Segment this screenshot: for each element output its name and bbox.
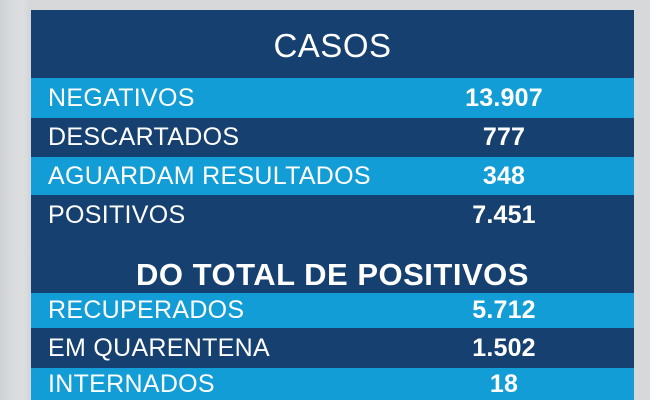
- row-label-aguardam-resultados: AGUARDAM RESULTADOS: [48, 162, 371, 191]
- row-label-descartados: DESCARTADOS: [48, 123, 239, 152]
- table-row-em-quarentena: EM QUARENTENA 1.502: [31, 328, 634, 368]
- row-label-positivos: POSITIVOS: [48, 201, 185, 230]
- row-value-negativos: 13.907: [429, 84, 579, 113]
- table-row-aguardam-resultados: AGUARDAM RESULTADOS 348: [31, 157, 634, 195]
- table-row-internados: INTERNADOS 18: [31, 368, 634, 400]
- row-value-descartados: 777: [429, 123, 579, 152]
- row-label-internados: INTERNADOS: [48, 370, 215, 399]
- row-value-positivos: 7.451: [429, 201, 579, 230]
- table-row-recuperados: RECUPERADOS 5.712: [31, 293, 634, 328]
- row-label-recuperados: RECUPERADOS: [48, 296, 244, 325]
- cases-infographic: CASOS NEGATIVOS 13.907 DESCARTADOS 777 A…: [0, 0, 650, 400]
- row-label-em-quarentena: EM QUARENTENA: [48, 334, 270, 363]
- stats-panel: CASOS NEGATIVOS 13.907 DESCARTADOS 777 A…: [31, 10, 634, 400]
- row-value-internados: 18: [429, 370, 579, 399]
- row-value-aguardam-resultados: 348: [429, 162, 579, 191]
- row-label-negativos: NEGATIVOS: [48, 84, 195, 113]
- row-value-recuperados: 5.712: [429, 296, 579, 325]
- table-row-descartados: DESCARTADOS 777: [31, 118, 634, 157]
- section-heading-do-total-de-positivos: DO TOTAL DE POSITIVOS: [31, 257, 634, 293]
- table-row-negativos: NEGATIVOS 13.907: [31, 78, 634, 118]
- section-heading-casos: CASOS: [31, 27, 634, 65]
- table-row-positivos: POSITIVOS 7.451: [31, 195, 634, 235]
- row-value-em-quarentena: 1.502: [429, 334, 579, 363]
